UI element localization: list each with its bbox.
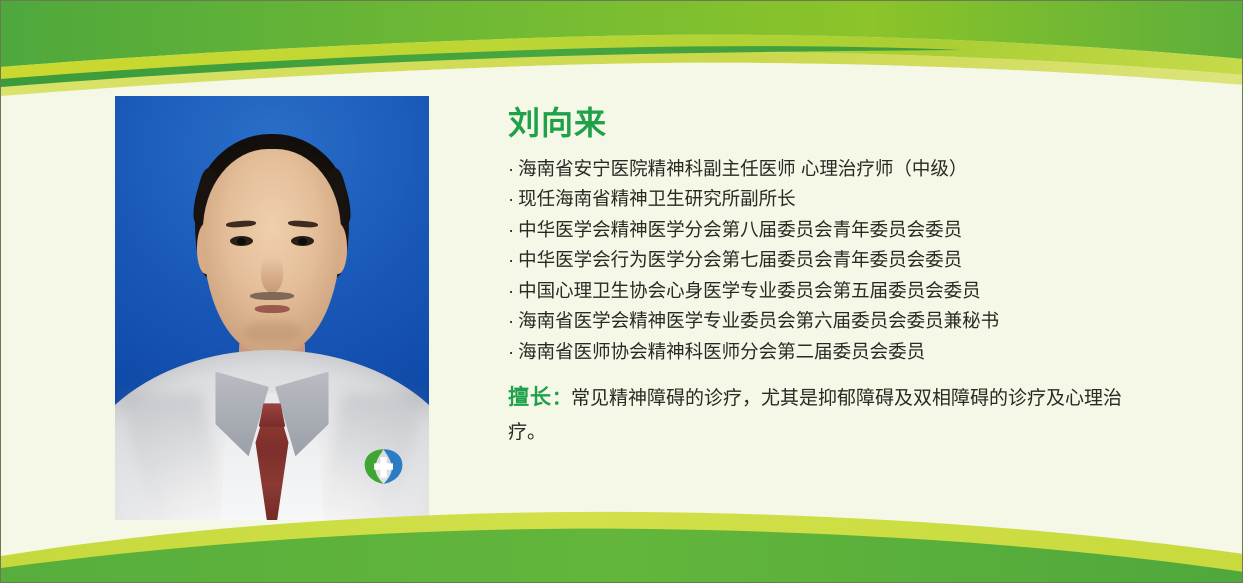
doctor-name: 刘向来	[508, 105, 1168, 142]
credential-text: 中华医学会行为医学分会第七届委员会青年委员会委员	[518, 249, 962, 270]
nose	[261, 257, 283, 293]
list-item: ·中华医学会行为医学分会第七届委员会青年委员会委员	[508, 245, 1168, 276]
doctor-photo	[115, 96, 429, 520]
credential-text: 中国心理卫生协会心身医学专业委员会第五届委员会委员	[518, 280, 981, 301]
list-item: ·现任海南省精神卫生研究所副所长	[508, 184, 1168, 215]
credentials-list: ·海南省安宁医院精神科副主任医师 心理治疗师（中级） ·现任海南省精神卫生研究所…	[508, 154, 1168, 368]
pupil-left	[237, 238, 245, 245]
expertise-label: 擅长	[508, 386, 552, 409]
hospital-logo-icon	[360, 439, 407, 494]
bullet-dot: ·	[508, 219, 514, 240]
top-banner-graphic	[1, 1, 1243, 97]
chin-shadow	[244, 321, 301, 342]
mouth	[255, 305, 290, 313]
bullet-dot: ·	[508, 249, 514, 270]
bullet-dot: ·	[508, 158, 514, 179]
credential-text: 中华医学会精神医学分会第八届委员会青年委员会委员	[518, 219, 962, 240]
credential-text: 海南省安宁医院精神科副主任医师 心理治疗师（中级）	[518, 158, 967, 179]
expertise-paragraph: 擅长：常见精神障碍的诊疗，尤其是抑郁障碍及双相障碍的诊疗及心理治疗。	[508, 381, 1148, 450]
mustache	[250, 292, 294, 300]
top-decorative-banner	[1, 1, 1243, 97]
bullet-dot: ·	[508, 310, 514, 331]
list-item: ·中国心理卫生协会心身医学专业委员会第五届委员会委员	[508, 276, 1168, 307]
bullet-dot: ·	[508, 280, 514, 301]
list-item: ·中华医学会精神医学分会第八届委员会青年委员会委员	[508, 215, 1168, 246]
photo-canvas	[115, 96, 429, 520]
expertise-colon: ：	[552, 388, 571, 409]
list-item: ·海南省医师协会精神科医师分会第二届委员会委员	[508, 337, 1168, 368]
pupil-right	[298, 238, 306, 245]
bullet-dot: ·	[508, 188, 514, 209]
credential-text: 海南省医学会精神医学专业委员会第六届委员会委员兼秘书	[518, 310, 999, 331]
credential-text: 现任海南省精神卫生研究所副所长	[518, 188, 796, 209]
doctor-info: 刘向来 ·海南省安宁医院精神科副主任医师 心理治疗师（中级） ·现任海南省精神卫…	[508, 105, 1168, 469]
credential-text: 海南省医师协会精神科医师分会第二届委员会委员	[518, 341, 925, 362]
list-item: ·海南省安宁医院精神科副主任医师 心理治疗师（中级）	[508, 154, 1168, 185]
doctor-profile-card: 刘向来 ·海南省安宁医院精神科副主任医师 心理治疗师（中级） ·现任海南省精神卫…	[0, 0, 1243, 583]
list-item: ·海南省医学会精神医学专业委员会第六届委员会委员兼秘书	[508, 306, 1168, 337]
expertise-text: 常见精神障碍的诊疗，尤其是抑郁障碍及双相障碍的诊疗及心理治疗。	[508, 388, 1122, 443]
bullet-dot: ·	[508, 341, 514, 362]
hospital-logo-badge	[360, 439, 407, 494]
